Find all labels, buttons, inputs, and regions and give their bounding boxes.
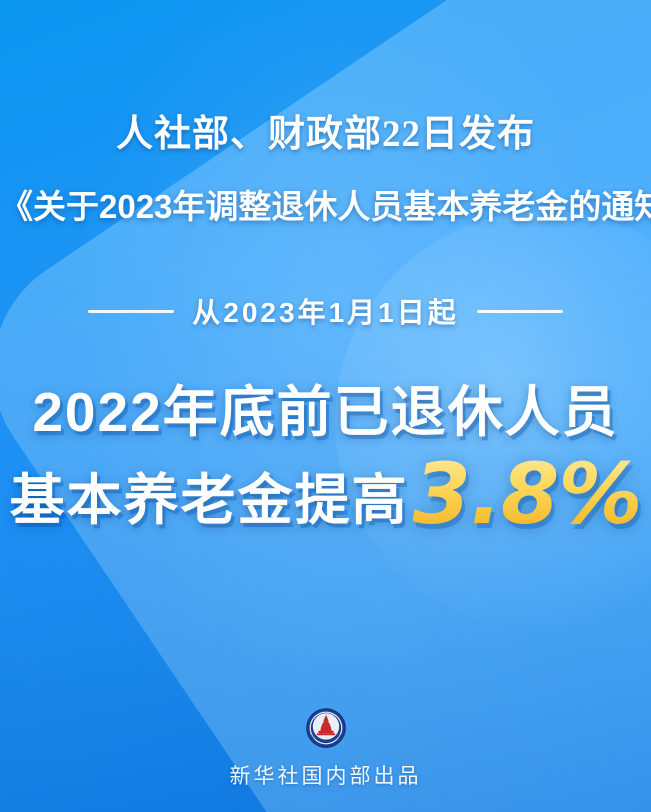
rule-right-icon bbox=[477, 310, 563, 313]
main-headline-line-2: 基本养老金提高 3.8% bbox=[0, 448, 651, 535]
news-poster: 人社部、财政部22日发布 《关于2023年调整退休人员基本养老金的通知》 从20… bbox=[0, 0, 651, 812]
rule-left-icon bbox=[88, 310, 174, 313]
xinhua-news-agency-emblem-icon bbox=[306, 708, 346, 748]
poster-content: 人社部、财政部22日发布 《关于2023年调整退休人员基本养老金的通知》 从20… bbox=[0, 0, 651, 812]
footer-credit: 新华社国内部出品 bbox=[0, 760, 651, 790]
source-line: 人社部、财政部22日发布 bbox=[0, 103, 651, 157]
effective-date-row: 从2023年1月1日起 bbox=[0, 291, 651, 331]
document-title: 《关于2023年调整退休人员基本养老金的通知》 bbox=[0, 180, 651, 228]
main-headline-line-1: 2022年底前已退休人员 bbox=[0, 367, 651, 447]
main-headline-line-2-text: 基本养老金提高 bbox=[10, 455, 409, 535]
increase-percentage-value: 3.8% bbox=[413, 452, 642, 536]
effective-date-text: 从2023年1月1日起 bbox=[192, 291, 458, 331]
footer: 新华社国内部出品 bbox=[0, 708, 651, 790]
